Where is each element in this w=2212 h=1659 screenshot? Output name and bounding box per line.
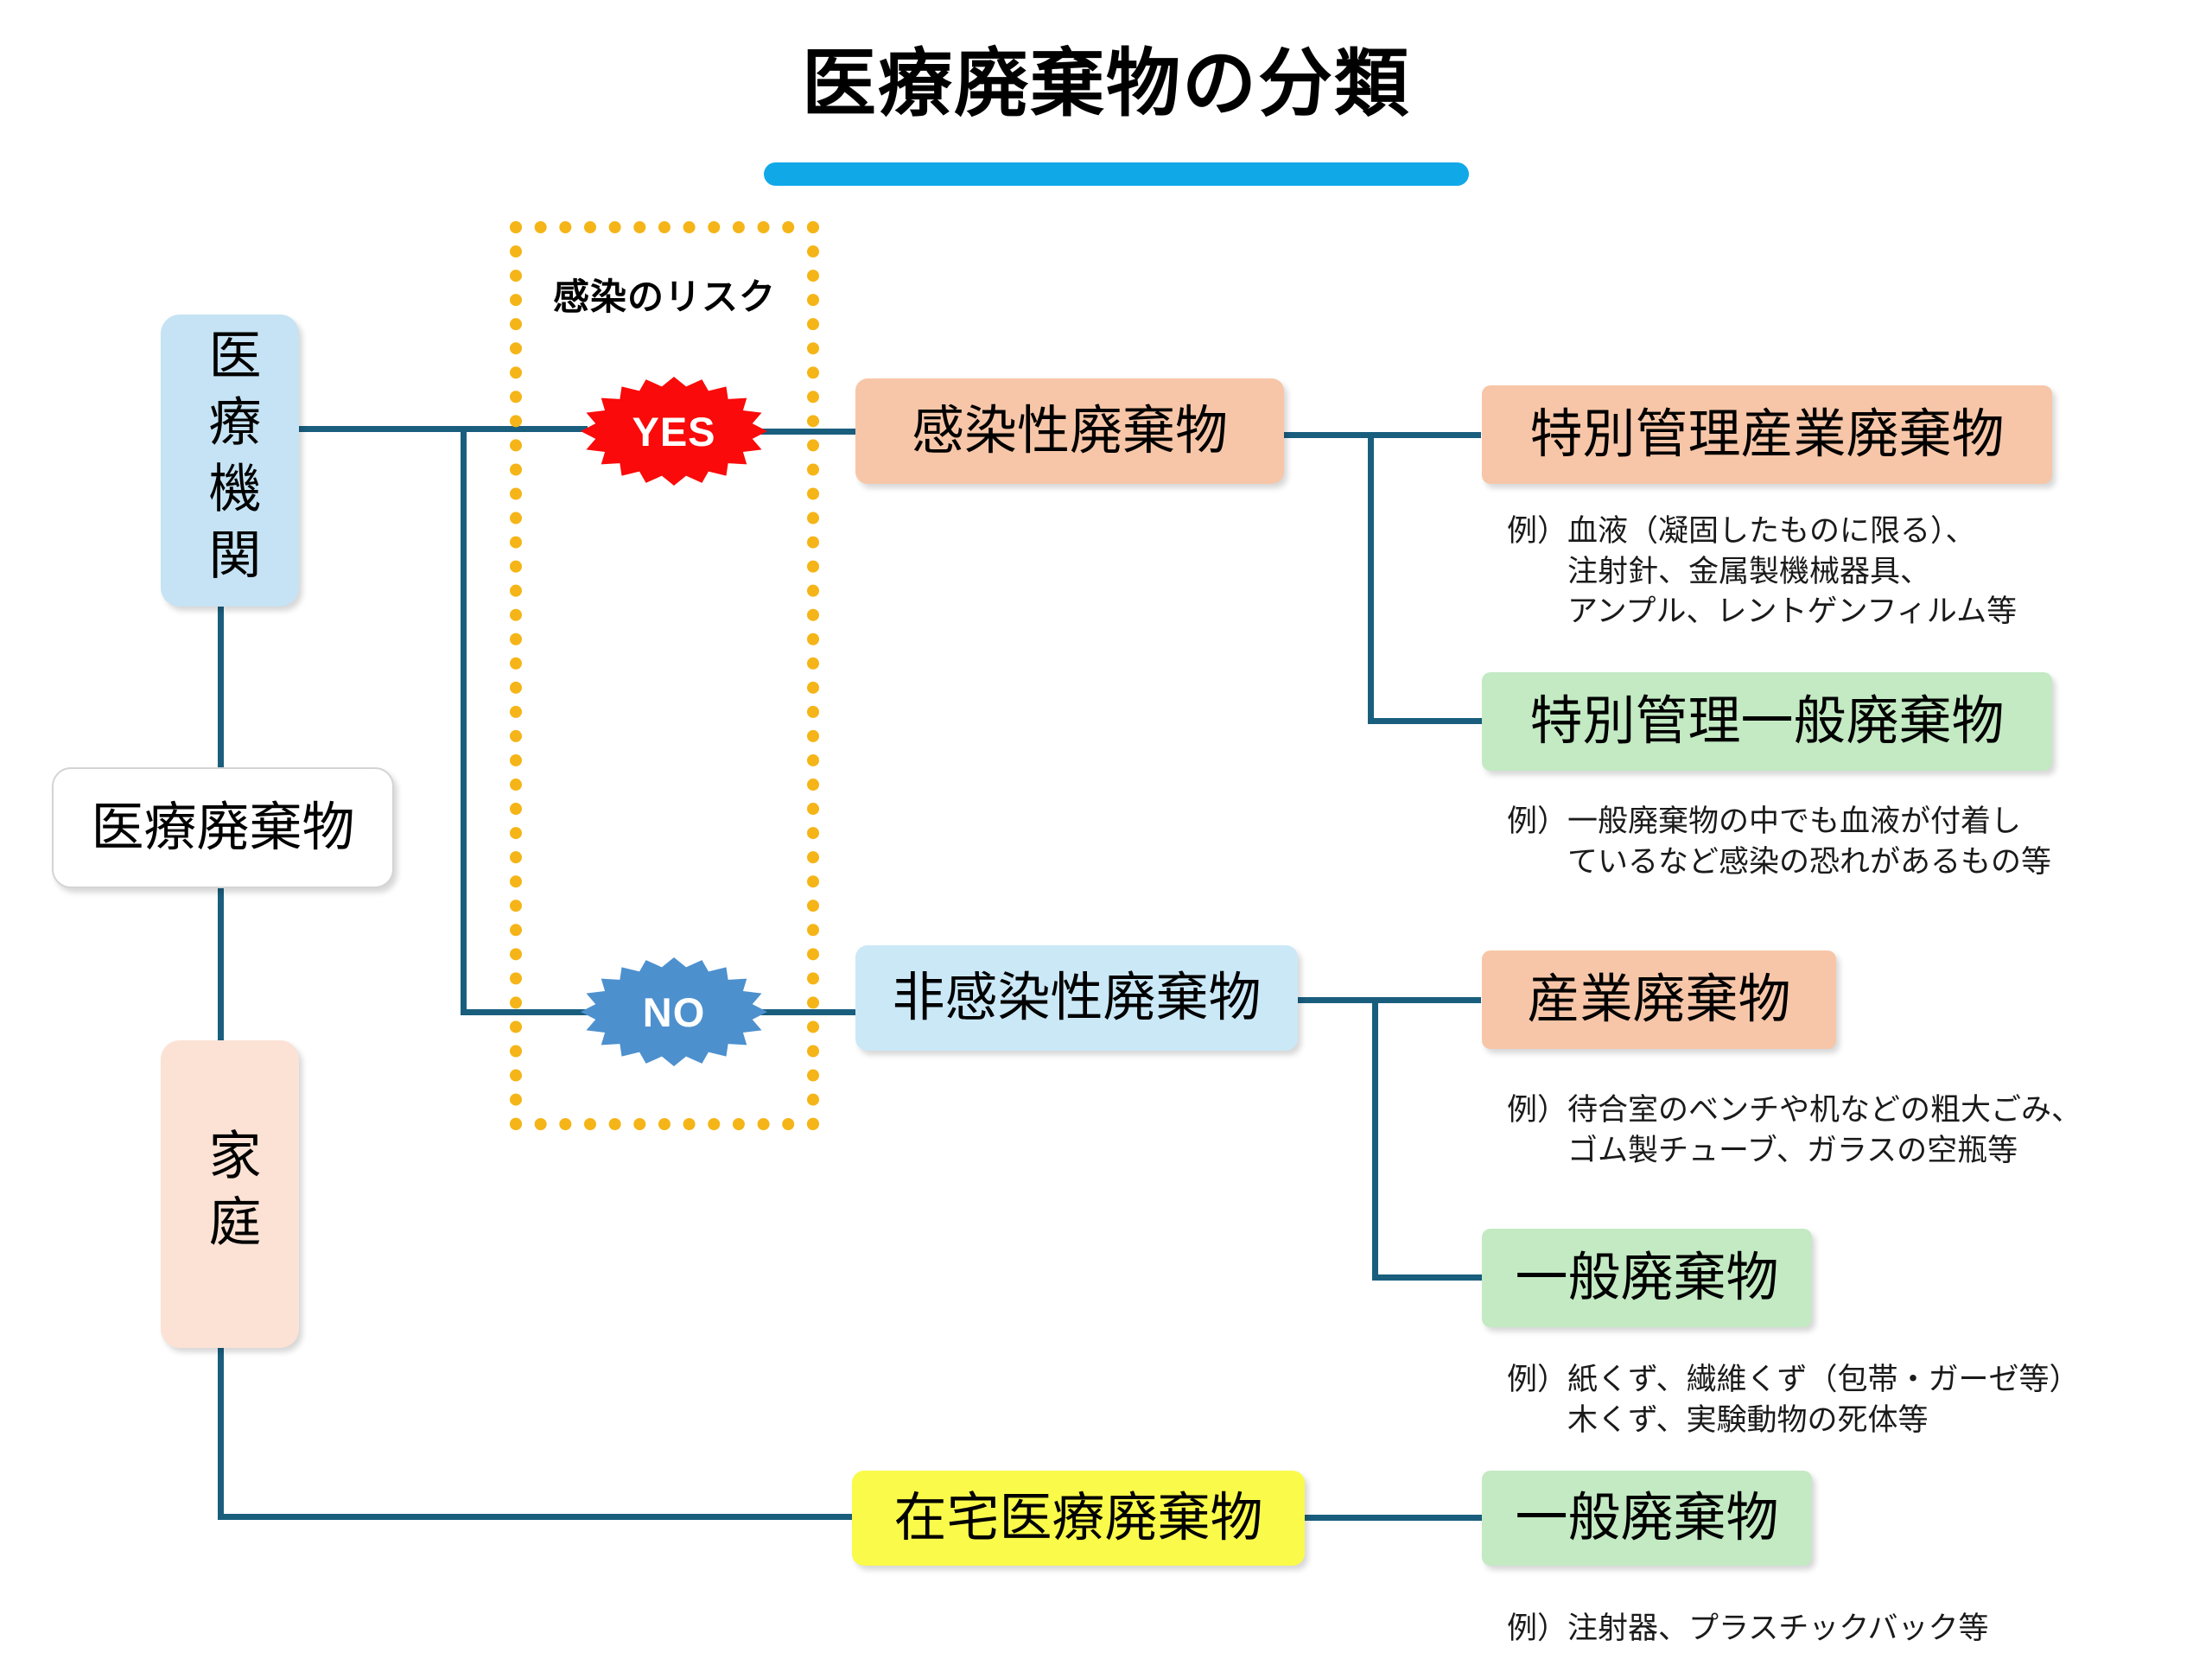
connector-root-to-household <box>218 888 224 1042</box>
example-special-controlled-industrial-waste: 例）血液（凝固したものに限る）、 注射針、金属製機械器具、 アンプル、レントゲン… <box>1507 512 2017 632</box>
node-special-controlled-industrial-waste[interactable]: 特別管理産業廃棄物 <box>1482 385 2052 484</box>
decision-star-yes-label: YES <box>632 408 715 455</box>
example-special-controlled-general-waste: 例）一般廃棄物の中でも血液が付着し ているなど感染の恐れがあるもの等 <box>1507 802 2051 882</box>
node-medical-waste-root-label: 医療廃棄物 <box>91 797 354 859</box>
node-general-waste-from-home-medical-label: 一般廃棄物 <box>1515 1487 1778 1549</box>
node-non-infectious-waste-label: 非感染性廃棄物 <box>892 967 1261 1029</box>
node-special-controlled-general-waste[interactable]: 特別管理一般廃棄物 <box>1482 672 2052 771</box>
connector-infectious-out <box>1284 432 1481 438</box>
connector-home-medical-to-general <box>1305 1515 1483 1521</box>
node-general-waste-from-noninfectious-label: 一般廃棄物 <box>1515 1247 1778 1309</box>
node-non-infectious-waste[interactable]: 非感染性廃棄物 <box>855 945 1298 1051</box>
node-household[interactable]: 家庭 <box>161 1040 299 1348</box>
node-household-label: 家庭 <box>204 1128 257 1261</box>
page-title: 医療廃棄物の分類 <box>0 45 2212 123</box>
node-industrial-waste[interactable]: 産業廃棄物 <box>1482 950 1836 1049</box>
example-general-waste-from-noninfectious: 例）紙くず、繊維くず（包帯・ガーゼ等） 木くず、実験動物の死体等 <box>1507 1360 2080 1440</box>
infection-risk-label: 感染のリスク <box>510 268 819 321</box>
node-medical-institution[interactable]: 医療機関 <box>161 315 299 607</box>
example-general-waste-from-home-medical: 例）注射器、プラスチックバック等 <box>1507 1609 1989 1649</box>
connector-infectious-to-special-general <box>1368 718 1482 724</box>
decision-star-no-label: NO <box>643 988 706 1036</box>
connector-noninfectious-split-vertical <box>1372 997 1378 1278</box>
node-infectious-waste[interactable]: 感染性廃棄物 <box>855 378 1284 484</box>
node-general-waste-from-noninfectious[interactable]: 一般廃棄物 <box>1482 1229 1812 1327</box>
title-accent-bar <box>764 162 1469 186</box>
connector-institution-to-root <box>218 605 224 769</box>
connector-infectious-split-vertical <box>1368 432 1374 721</box>
connector-household-down <box>218 1346 224 1519</box>
node-home-medical-waste[interactable]: 在宅医療廃棄物 <box>852 1471 1305 1566</box>
node-infectious-waste-label: 感染性廃棄物 <box>912 400 1228 462</box>
node-special-controlled-general-waste-label: 特別管理一般廃棄物 <box>1529 690 2004 753</box>
connector-household-to-home-medical <box>218 1514 854 1520</box>
node-medical-waste-root[interactable]: 医療廃棄物 <box>52 767 394 888</box>
node-medical-institution-label: 医療機関 <box>204 327 257 594</box>
example-industrial-waste: 例）待合室のベンチや机などの粗大ごみ、 ゴム製チューブ、ガラスの空瓶等 <box>1507 1090 2082 1171</box>
node-general-waste-from-home-medical[interactable]: 一般廃棄物 <box>1482 1471 1812 1566</box>
connector-noninfectious-to-general <box>1372 1274 1483 1281</box>
connector-institution-branch-vertical <box>461 426 467 1012</box>
node-special-controlled-industrial-waste-label: 特別管理産業廃棄物 <box>1529 404 2004 466</box>
diagram-canvas: 医療廃棄物の分類 医療機関 医療廃棄物 家庭 感染のリスク YES NO <box>0 0 2212 1659</box>
connector-noninfectious-out <box>1298 997 1481 1003</box>
node-industrial-waste-label: 産業廃棄物 <box>1527 969 1790 1031</box>
node-home-medical-waste-label: 在宅医療廃棄物 <box>893 1487 1262 1549</box>
